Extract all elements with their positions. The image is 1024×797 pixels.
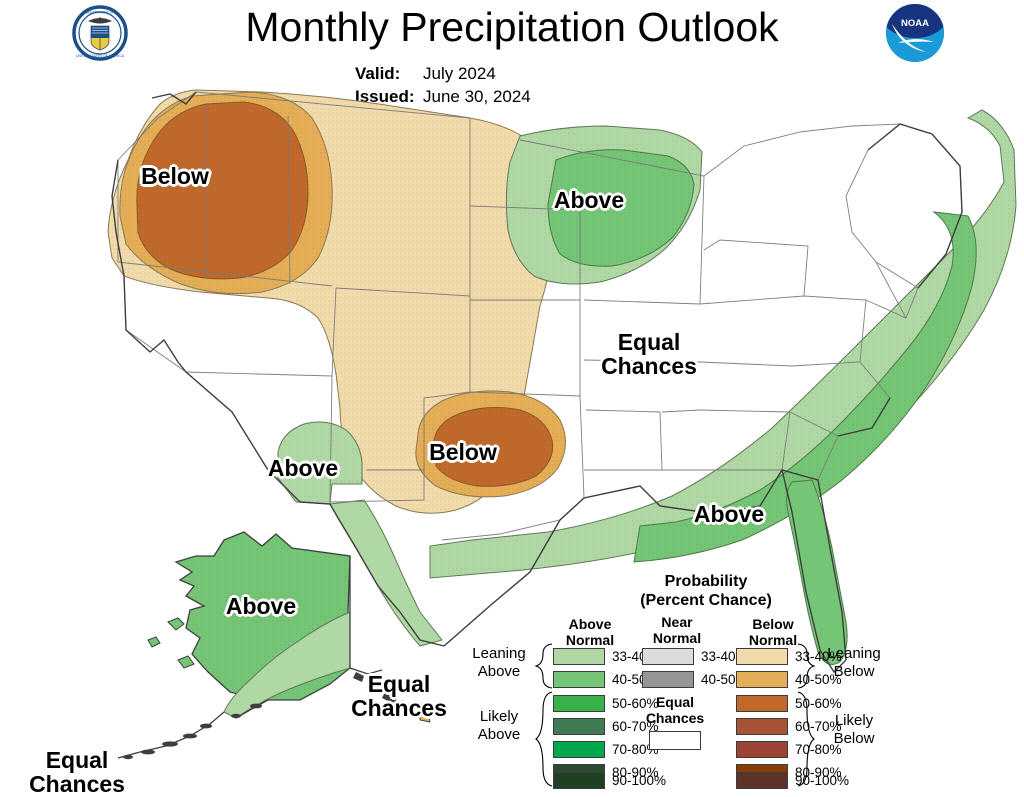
leaning-below-l2: Below — [813, 663, 895, 681]
brace-likely-above — [535, 690, 553, 788]
likely-below-l2: Below — [813, 730, 895, 748]
map-label-southern-rockies: Below — [398, 440, 528, 464]
equal-chances-line1: Equal — [368, 671, 431, 697]
legend-swatch-color-above-3 — [553, 718, 605, 735]
map-label-great-lakes: Above — [524, 188, 654, 212]
legend-swatch-above-6: 90-100% — [553, 772, 666, 791]
equal-chances-line1: Equal — [618, 329, 681, 355]
brace-likely-below — [797, 690, 815, 788]
legend-swatch-color-near-0 — [642, 648, 694, 665]
legend-title: Probability (Percent Chance) — [455, 572, 895, 610]
map-label-southeast: Above — [664, 502, 794, 526]
likely-above-l2: Above — [461, 726, 537, 744]
legend-swatch-color-above-1 — [553, 671, 605, 688]
legend-side-label-leaning-above: Leaning Above — [461, 645, 537, 681]
legend-side-label-leaning-below: Leaning Below — [813, 645, 895, 681]
map-label-aleutians-equal-chances: Equal Chances — [10, 748, 144, 796]
legend-swatch-color-above-6 — [553, 772, 605, 789]
legend-swatch-color-near-1 — [642, 671, 694, 688]
legend-swatch-color-below-3 — [736, 718, 788, 735]
legend-head-below-l1: Below — [728, 616, 818, 632]
outlook-map-page: DEPARTMENT OF UNITED STATES OF AMERICA N… — [0, 0, 1024, 791]
legend-swatch-near-1: 40-50% — [642, 671, 748, 690]
legend-head-above-l1: Above — [545, 616, 635, 632]
likely-above-l1: Likely — [461, 708, 537, 726]
legend-swatch-color-above-0 — [553, 648, 605, 665]
legend-side-label-likely-above: Likely Above — [461, 708, 537, 744]
legend-column-head-above-normal: Above Normal — [545, 616, 635, 648]
map-label-pacific-northwest: Below — [110, 164, 240, 188]
legend-equal-chances-line2: Chances — [630, 710, 720, 726]
equal-chances-line1: Equal — [46, 747, 109, 773]
legend-swatch-label-above-6: 90-100% — [612, 773, 666, 788]
legend-equal-chances-block: Equal Chances — [630, 694, 720, 750]
leaning-above-l1: Leaning — [461, 645, 537, 663]
legend-swatch-below-6: 90-100% — [736, 772, 849, 791]
legend-swatch-color-above-4 — [553, 741, 605, 758]
legend-head-near-l2: Normal — [632, 630, 722, 646]
legend-swatch-near-0: 33-40% — [642, 648, 748, 667]
legend-title-line1: Probability — [517, 572, 895, 591]
map-label-central-plains-equal-chances: Equal Chances — [582, 330, 716, 378]
legend-equal-chances-swatch — [649, 731, 701, 750]
legend-title-line2: (Percent Chance) — [517, 591, 895, 610]
brace-leaning-below — [797, 642, 815, 690]
legend-swatch-color-below-1 — [736, 671, 788, 688]
legend-swatch-color-below-2 — [736, 695, 788, 712]
equal-chances-line2: Chances — [29, 771, 125, 797]
leaning-above-l2: Above — [461, 663, 537, 681]
legend-swatch-color-below-6 — [736, 772, 788, 789]
map-label-southwest: Above — [238, 456, 368, 480]
brace-leaning-above — [535, 642, 553, 690]
legend-head-above-l2: Normal — [545, 632, 635, 648]
legend-column-head-near-normal: Near Normal — [632, 614, 722, 646]
legend-side-label-likely-below: Likely Below — [813, 712, 895, 748]
legend-head-near-l1: Near — [632, 614, 722, 630]
legend-swatch-color-below-4 — [736, 741, 788, 758]
equal-chances-line2: Chances — [601, 353, 697, 379]
leaning-below-l1: Leaning — [813, 645, 895, 663]
legend: Probability (Percent Chance) Above Norma… — [455, 572, 895, 791]
likely-below-l1: Likely — [813, 712, 895, 730]
map-label-alaska-southeast-equal-chances: Equal Chances — [332, 672, 466, 720]
equal-chances-line2: Chances — [351, 695, 447, 721]
legend-equal-chances-line1: Equal — [630, 694, 720, 710]
map-label-alaska-interior: Above — [196, 594, 326, 618]
legend-swatch-color-below-0 — [736, 648, 788, 665]
legend-swatch-color-above-2 — [553, 695, 605, 712]
